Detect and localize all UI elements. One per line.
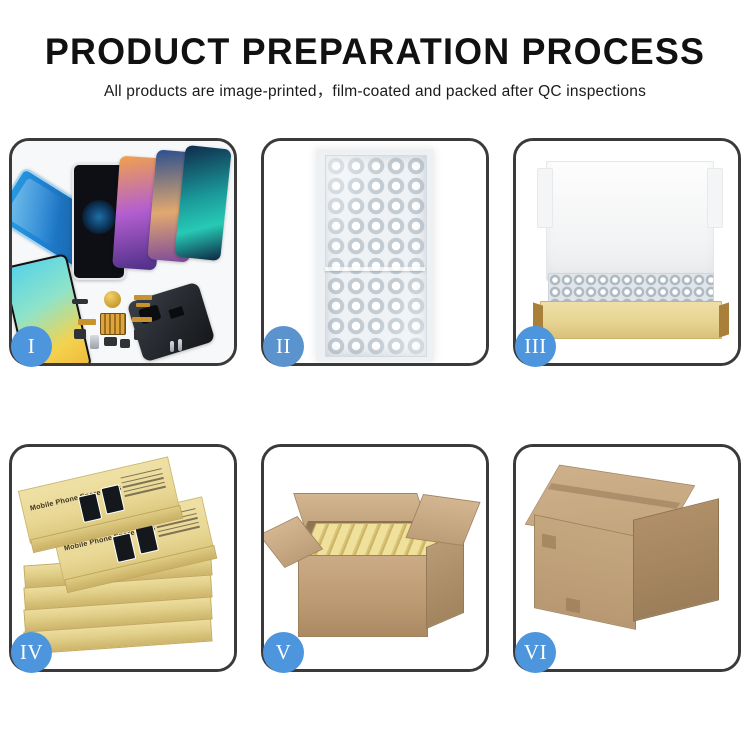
panel-3-image: [516, 141, 738, 363]
label-phone-image-a: [78, 492, 103, 523]
panel-badge-4: IV: [11, 632, 52, 673]
part-vibrator: [104, 337, 117, 346]
sealed-carton-tab-upper: [542, 534, 556, 550]
sealed-carton-tab-lower: [566, 598, 580, 614]
panel-badge-6: VI: [515, 632, 556, 673]
mailer-box-base: [540, 301, 722, 339]
panel-badge-1: I: [11, 326, 52, 367]
process-panel-5[interactable]: V: [261, 444, 489, 672]
page-subtitle: All products are image-printed，film-coat…: [0, 81, 750, 103]
retail-box-stack: Mobile Phone Spare Parts Mobile Phone Sp…: [12, 447, 234, 669]
process-panel-4[interactable]: Mobile Phone Spare Parts Mobile Phone Sp…: [9, 444, 237, 672]
process-panel-grid: I II III: [9, 138, 741, 672]
part-flex-cable-c: [78, 319, 96, 325]
bubble-pouch: [316, 149, 434, 361]
part-bracket: [74, 329, 86, 339]
part-button-set: [120, 339, 130, 348]
mailer-box-lid: [546, 161, 714, 281]
part-flex-cable-a: [134, 295, 152, 300]
panel-badge-2: II: [263, 326, 304, 367]
process-panel-3[interactable]: III: [513, 138, 741, 366]
label-spec-lines: [121, 468, 169, 507]
bubble-wrap-texture: [325, 155, 427, 357]
part-speaker-coil: [104, 291, 121, 308]
panel-1-image: [12, 141, 234, 363]
panel-2-image: [264, 141, 486, 363]
process-panel-1[interactable]: I: [9, 138, 237, 366]
carton-right-face: [426, 531, 464, 629]
part-flex-cable-b: [136, 303, 150, 307]
bubble-wrap-seam: [325, 267, 425, 271]
panel-4-image: Mobile Phone Spare Parts Mobile Phone Sp…: [12, 447, 234, 669]
part-logic-chip: [100, 313, 126, 335]
panel-badge-3: III: [515, 326, 556, 367]
panel-5-image: [264, 447, 486, 669]
label-phone-image-a: [112, 532, 137, 563]
page-title: PRODUCT PREPARATION PROCESS: [11, 30, 739, 74]
spare-parts-cluster: [70, 289, 190, 361]
panel-6-image: [516, 447, 738, 669]
panel-badge-5: V: [263, 632, 304, 673]
part-screw-a: [170, 341, 174, 352]
process-panel-2[interactable]: II: [261, 138, 489, 366]
part-camera-module: [90, 335, 99, 349]
part-sim-tray: [134, 329, 143, 340]
part-connector: [72, 299, 88, 304]
carton-front-face: [298, 555, 428, 637]
page-header: PRODUCT PREPARATION PROCESS All products…: [0, 0, 750, 103]
sealed-carton-right: [633, 498, 719, 621]
process-panel-6[interactable]: VI: [513, 444, 741, 672]
part-screw-b: [178, 339, 182, 351]
part-flex-cable-d: [132, 317, 152, 322]
